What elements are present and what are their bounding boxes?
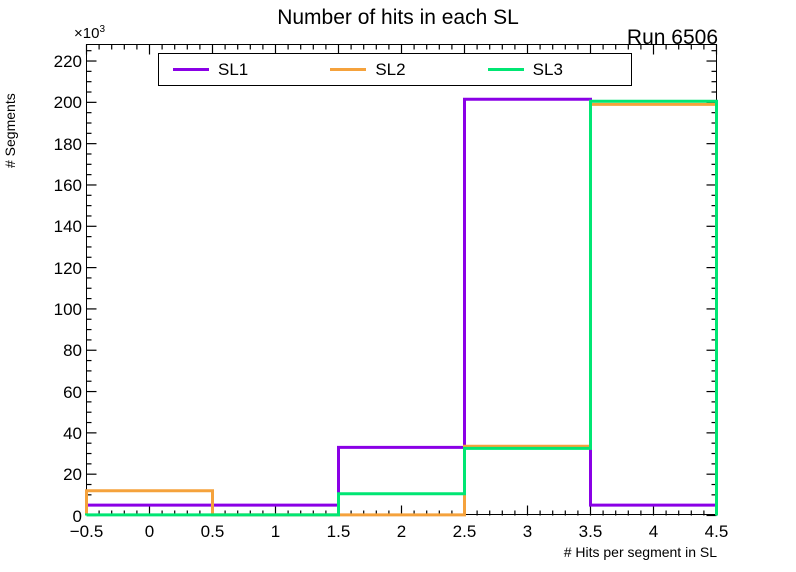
- x-tick-label: −0.5: [70, 523, 104, 540]
- y-tick-label: 80: [36, 342, 82, 359]
- legend-swatch-icon: [488, 68, 524, 71]
- y-tick-label: 40: [36, 425, 82, 442]
- x-tick-label: 2: [397, 523, 406, 540]
- y-tick-label: 160: [36, 177, 82, 194]
- histogram-line-sl1: [87, 99, 717, 515]
- x-tick-label: 3.5: [579, 523, 603, 540]
- y-tick-label: 100: [36, 301, 82, 318]
- x-tick-label: 0.5: [201, 523, 225, 540]
- x-axis-tick-labels: −0.500.511.522.533.544.5: [0, 519, 796, 545]
- x-tick-label: 4.5: [705, 523, 729, 540]
- legend[interactable]: SL1SL2SL3: [158, 53, 632, 86]
- histogram-line-sl2: [87, 104, 717, 515]
- y-tick-label: 60: [36, 384, 82, 401]
- y-tick-label: 200: [36, 94, 82, 111]
- legend-swatch-icon: [173, 68, 209, 71]
- x-tick-label: 1.5: [327, 523, 351, 540]
- axis-ticks: [87, 45, 717, 516]
- y-tick-label: 20: [36, 466, 82, 483]
- y-tick-label: 220: [36, 53, 82, 70]
- x-tick-label: 1: [271, 523, 280, 540]
- root-canvas: Number of hits in each SL Run 6506 ×103 …: [0, 0, 796, 572]
- legend-label: SL2: [375, 61, 405, 78]
- x-tick-label: 4: [649, 523, 658, 540]
- y-tick-label: 140: [36, 218, 82, 235]
- y-tick-label: 120: [36, 260, 82, 277]
- histogram-line-sl3: [87, 101, 717, 515]
- x-tick-label: 2.5: [453, 523, 477, 540]
- legend-entry-sl2[interactable]: SL2: [316, 61, 473, 78]
- x-tick-label: 3: [523, 523, 532, 540]
- legend-entry-sl1[interactable]: SL1: [159, 61, 316, 78]
- histogram-series: [87, 99, 717, 515]
- legend-label: SL3: [533, 61, 563, 78]
- legend-entry-sl3[interactable]: SL3: [474, 61, 631, 78]
- x-tick-label: 0: [145, 523, 154, 540]
- legend-label: SL1: [218, 61, 248, 78]
- y-axis-tick-labels: 020406080100120140160180200220: [30, 0, 82, 572]
- y-tick-label: 180: [36, 136, 82, 153]
- legend-swatch-icon: [330, 68, 366, 71]
